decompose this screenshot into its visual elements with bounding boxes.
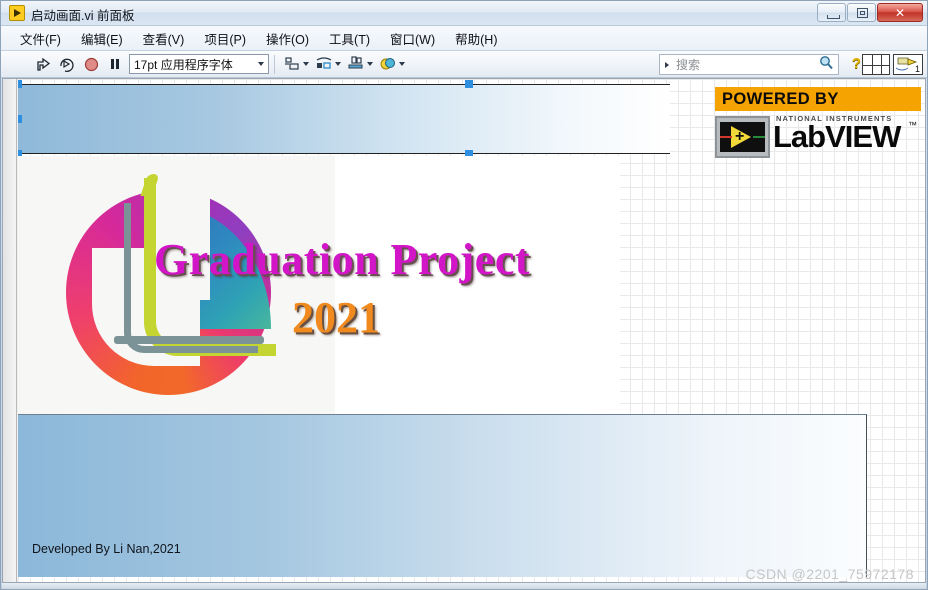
title-bar[interactable]: 启动画面.vi 前面板 ✕	[1, 1, 927, 26]
national-instruments-mark-icon	[715, 116, 770, 158]
search-placeholder: 搜索	[670, 56, 819, 73]
abort-execution-icon[interactable]	[80, 54, 102, 75]
window-frame: 启动画面.vi 前面板 ✕ 文件(F) 编辑(E) 查看(V) 项目(P) 操作…	[0, 0, 928, 590]
toolbar-separator	[274, 55, 275, 74]
vi-icon[interactable]: 1	[893, 54, 923, 75]
search-expand-icon	[665, 62, 669, 68]
distribute-objects-icon[interactable]	[315, 55, 341, 73]
menu-help[interactable]: 帮助(H)	[446, 26, 506, 51]
menu-bar: 文件(F) 编辑(E) 查看(V) 项目(P) 操作(O) 工具(T) 窗口(W…	[1, 26, 927, 51]
close-icon: ✕	[895, 6, 905, 20]
search-input[interactable]: 搜索	[659, 54, 839, 75]
powered-by-banner: POWERED BY	[715, 87, 921, 111]
window-title: 启动画面.vi 前面板	[31, 5, 134, 24]
app-root: 启动画面.vi 前面板 ✕ 文件(F) 编辑(E) 查看(V) 项目(P) 操作…	[0, 0, 928, 590]
labview-wordmark: LabVIEW	[773, 119, 900, 155]
front-panel: POWERED BY NATIONAL INSTRUMENTS LabVIEW …	[2, 78, 926, 583]
top-gradient-banner[interactable]	[18, 84, 670, 154]
menu-window[interactable]: 窗口(W)	[381, 26, 444, 51]
front-panel-left-rail[interactable]	[3, 79, 17, 582]
vi-icon-label: 1	[915, 64, 920, 74]
caption-buttons: ✕	[816, 3, 923, 22]
menu-tools[interactable]: 工具(T)	[320, 26, 379, 51]
close-button[interactable]: ✕	[877, 3, 923, 22]
resize-objects-icon[interactable]	[347, 55, 373, 73]
csdn-watermark: CSDN @2201_75972178	[746, 566, 915, 582]
splash-title: Graduation Project	[154, 234, 530, 285]
menu-view[interactable]: 查看(V)	[134, 26, 194, 51]
font-selector-value: 17pt 应用程序字体	[134, 56, 258, 73]
align-objects-icon[interactable]	[283, 55, 309, 73]
minimize-button[interactable]	[817, 3, 846, 22]
developer-credit: Developed By Li Nan,2021	[32, 542, 181, 556]
toolbar: 17pt 应用程序字体	[1, 51, 927, 78]
trademark-symbol: ™	[908, 120, 917, 130]
graduation-logo	[66, 178, 291, 403]
menu-file[interactable]: 文件(F)	[11, 26, 70, 51]
panel-icons: 1	[862, 54, 923, 75]
run-arrow-icon[interactable]	[32, 54, 54, 75]
selection-handle-tl[interactable]	[18, 80, 22, 88]
reorder-objects-icon[interactable]	[379, 55, 405, 73]
window-arrangement-icon[interactable]	[862, 54, 890, 75]
selection-handle-ml[interactable]	[18, 115, 22, 123]
run-continuously-icon[interactable]	[56, 54, 78, 75]
powered-by-text: POWERED BY	[722, 90, 839, 109]
menu-project[interactable]: 项目(P)	[195, 26, 255, 51]
context-help-icon[interactable]: ?	[852, 55, 861, 72]
font-selector[interactable]: 17pt 应用程序字体	[129, 54, 269, 74]
status-bar	[2, 583, 926, 589]
menu-edit[interactable]: 编辑(E)	[72, 26, 132, 51]
chevron-down-icon	[258, 62, 264, 66]
search-magnifier-icon[interactable]	[819, 55, 838, 75]
restore-button[interactable]	[847, 3, 876, 22]
menu-operate[interactable]: 操作(O)	[257, 26, 318, 51]
front-panel-canvas[interactable]: POWERED BY NATIONAL INSTRUMENTS LabVIEW …	[18, 79, 925, 582]
selection-handle-tc[interactable]	[465, 80, 473, 88]
labview-logo-row: NATIONAL INSTRUMENTS LabVIEW ™	[702, 114, 921, 159]
splash-year: 2021	[292, 292, 380, 343]
labview-vi-icon	[9, 5, 25, 21]
splash-image[interactable]: Graduation Project 2021	[18, 156, 620, 416]
pause-icon[interactable]	[104, 54, 126, 75]
powered-by-labview-badge: POWERED BY NATIONAL INSTRUMENTS LabVIEW …	[702, 87, 921, 159]
